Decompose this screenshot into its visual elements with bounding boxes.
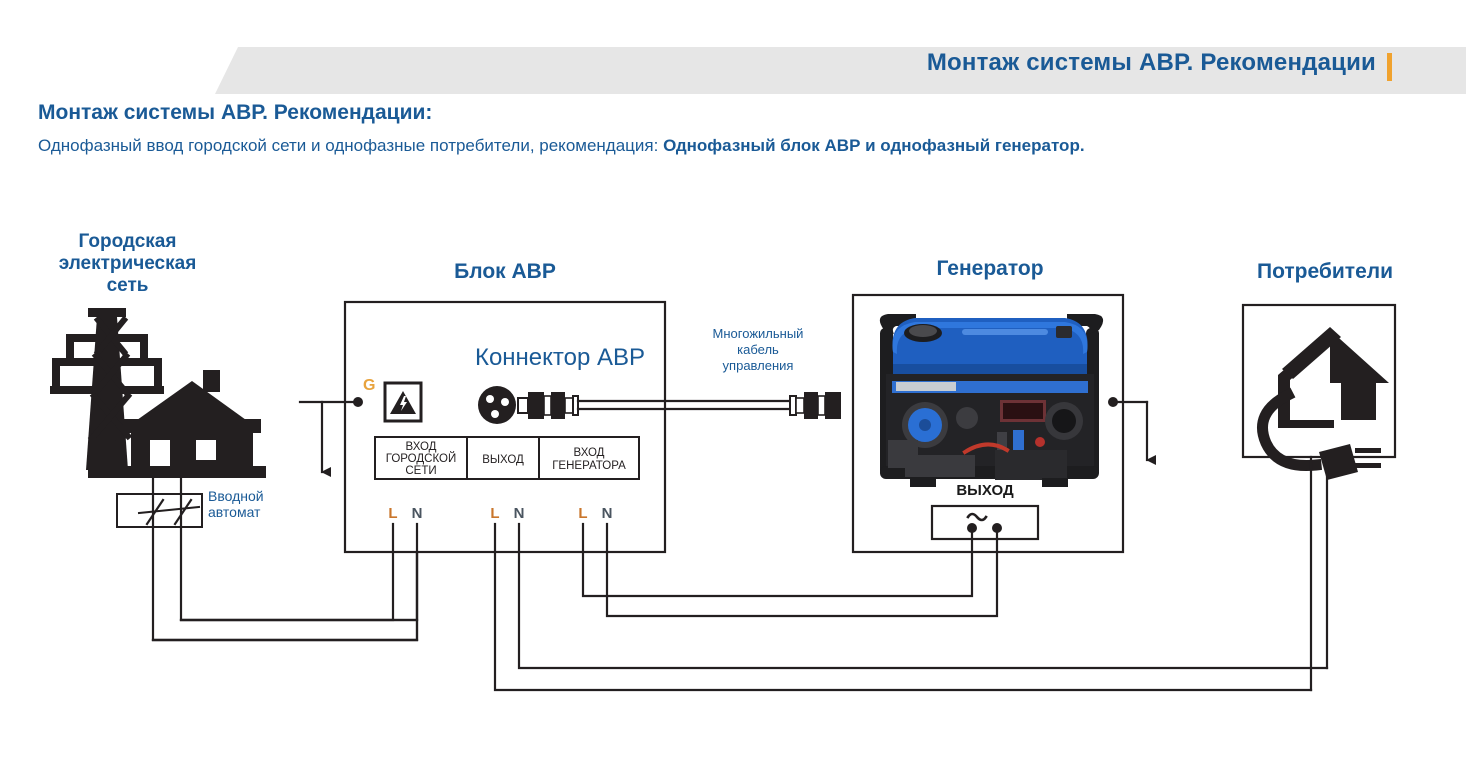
hazard-warning-icon xyxy=(385,383,421,421)
terminal-gen-line2: ГЕНЕРАТОРА xyxy=(552,460,626,472)
caption-avr-block: Блок АВР xyxy=(385,261,625,283)
wire-gen-n-to-avr xyxy=(607,528,997,616)
page-title: Монтаж системы АВР. Рекомендации: xyxy=(38,101,432,125)
generator-enclosure xyxy=(853,295,1123,552)
generator-output-symbol xyxy=(932,506,1038,539)
ground-label: G xyxy=(363,377,375,394)
label-control-cable: Многожильный кабель управления xyxy=(668,326,848,374)
wire-breaker-to-avr-city-l-seg xyxy=(181,527,417,620)
label-avr-connector: Коннектор АВР xyxy=(430,350,690,366)
terminal-gen-line1: ВХОД xyxy=(574,447,605,459)
subtitle-bold: Однофазный блок АВР и однофазный генерат… xyxy=(663,136,1085,155)
consumers-enclosure xyxy=(1243,305,1395,457)
avr-terminal-captions: ВХОД ГОРОДСКОЙ СЕТИ ВЫХОД ВХОД ГЕНЕРАТОР… xyxy=(386,441,626,477)
avr-connector-icon xyxy=(478,386,578,424)
generator-bus-dot xyxy=(1108,397,1118,407)
label-input-breaker: Вводной автомат xyxy=(208,488,318,520)
generator-connector-icon xyxy=(790,392,841,419)
pin-label-out-n: N xyxy=(514,505,525,522)
generator-illustration xyxy=(872,314,1118,487)
wire-avr-out-n-to-consumers xyxy=(519,552,1327,668)
wire-city-l xyxy=(181,524,393,620)
terminal-city-line3: СЕТИ xyxy=(405,465,436,477)
avr-enclosure xyxy=(345,302,665,552)
wire-city-n xyxy=(153,524,417,640)
terminal-city-line2: ГОРОДСКОЙ xyxy=(386,452,457,465)
ground-junction-dot xyxy=(353,397,363,407)
input-breaker-symbol xyxy=(117,494,202,527)
wire-gen-l-to-avr xyxy=(583,528,972,596)
terminal-city-line1: ВХОД xyxy=(406,441,437,453)
page-subtitle: Однофазный ввод городской сети и однофаз… xyxy=(38,133,1428,159)
wire-avr-out-l-to-consumers xyxy=(495,552,1311,690)
house-with-plug-icon xyxy=(1262,327,1389,480)
power-tower-icon xyxy=(50,308,164,470)
banner-accent-bar xyxy=(1387,53,1392,81)
pin-label-city-l: L xyxy=(388,505,397,522)
pin-label-gen-n: N xyxy=(602,505,613,522)
caption-consumers: Потребители xyxy=(1210,261,1440,283)
subtitle-plain: Однофазный ввод городской сети и однофаз… xyxy=(38,136,663,155)
pin-label-out-l: L xyxy=(490,505,499,522)
avr-terminal-boxes xyxy=(375,437,639,479)
avr-terminal-pins xyxy=(393,524,607,552)
wire-breaker-to-avr-city-l xyxy=(181,524,417,620)
terminal-out-line1: ВЫХОД xyxy=(482,454,524,466)
pin-label-gen-l: L xyxy=(578,505,587,522)
avr-pin-labels: L N L N L N xyxy=(388,505,612,522)
caption-generator: Генератор xyxy=(865,258,1115,280)
slide-canvas: Монтаж системы АВР. Рекомендации Монтаж … xyxy=(0,0,1466,780)
house-silhouette-icon xyxy=(88,370,266,478)
banner-title: Монтаж системы АВР. Рекомендации xyxy=(927,49,1376,77)
wire-breaker-to-avr-city-n xyxy=(153,524,417,640)
pin-label-city-n: N xyxy=(412,505,423,522)
caption-city-grid: Городская электрическая сеть xyxy=(10,231,245,297)
label-generator-output: ВЫХОД xyxy=(930,482,1040,499)
